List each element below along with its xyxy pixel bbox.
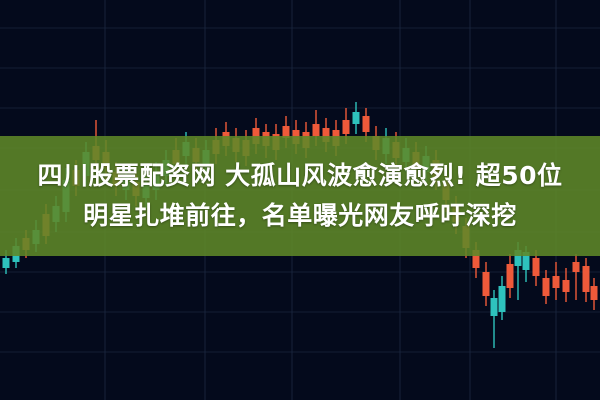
headline-line-1: 四川股票配资网 大孤山风波愈演愈烈! 超50位 [37, 156, 562, 196]
headline-banner: 四川股票配资网 大孤山风波愈演愈烈! 超50位 明星扎堆前往，名单曝光网友呼吁深… [0, 136, 600, 256]
screenshot-root: 四川股票配资网 大孤山风波愈演愈烈! 超50位 明星扎堆前往，名单曝光网友呼吁深… [0, 0, 600, 400]
headline-line-2: 明星扎堆前往，名单曝光网友呼吁深挖 [83, 196, 517, 236]
